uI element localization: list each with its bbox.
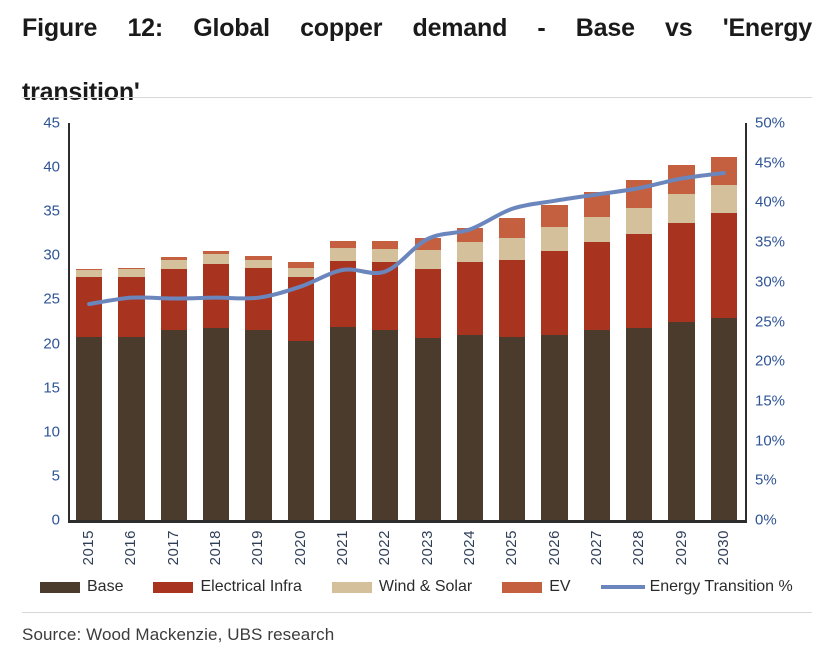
bar-segment-electrical-infra-2030 [711,213,737,318]
page-title: Figure 12: Global copper demand - Base v… [22,12,812,108]
bar-2016 [118,123,144,520]
y-axis-left [68,123,70,522]
x-tick-2024: 2024 [461,530,478,565]
bar-segment-ev-2019 [245,256,271,260]
chart-legend: BaseElectrical InfraWind & SolarEVEnergy… [40,578,793,596]
bar-segment-wind-solar-2029 [668,194,694,222]
bar-segment-electrical-infra-2020 [288,277,314,341]
y-tick-right-20pct: 20% [755,353,810,370]
bar-segment-wind-solar-2016 [118,269,144,277]
y-tick-right-45pct: 45% [755,154,810,171]
bar-segment-base-2023 [415,338,441,520]
y-tick-left-5: 5 [20,467,60,484]
bar-segment-ev-2016 [118,268,144,270]
bar-segment-wind-solar-2025 [499,238,525,260]
bar-segment-electrical-infra-2023 [415,269,441,339]
x-tick-2025: 2025 [503,530,520,565]
legend-item-electrical-infra[interactable]: Electrical Infra [153,578,301,596]
bar-segment-wind-solar-2017 [161,260,187,269]
bar-segment-electrical-infra-2028 [626,234,652,328]
y-tick-right-0pct: 0% [755,512,810,529]
y-tick-right-35pct: 35% [755,234,810,251]
bar-2020 [288,123,314,520]
bar-segment-electrical-infra-2024 [457,262,483,335]
bar-2028 [626,123,652,520]
legend-line-icon-energy-transition [601,585,645,589]
y-tick-right-30pct: 30% [755,273,810,290]
legend-label-wind-solar: Wind & Solar [379,578,472,596]
bar-2021 [330,123,356,520]
x-axis [68,520,747,523]
y-tick-right-5pct: 5% [755,472,810,489]
y-tick-right-40pct: 40% [755,194,810,211]
bar-segment-wind-solar-2021 [330,248,356,260]
y-tick-left-40: 40 [20,159,60,176]
bar-segment-base-2027 [584,330,610,520]
y-tick-left-10: 10 [20,423,60,440]
y-tick-left-30: 30 [20,247,60,264]
bar-2015 [76,123,102,520]
y-tick-left-25: 25 [20,291,60,308]
x-tick-2022: 2022 [376,530,393,565]
bar-segment-base-2015 [76,337,102,520]
bar-2019 [245,123,271,520]
legend-label-energy-transition: Energy Transition % [650,578,793,596]
bar-segment-wind-solar-2023 [415,250,441,269]
bar-2023 [415,123,441,520]
legend-swatch-icon-wind-solar [332,582,372,593]
bar-segment-electrical-infra-2018 [203,264,229,328]
bar-segment-ev-2017 [161,257,187,260]
x-tick-2027: 2027 [588,530,605,565]
bar-2030 [711,123,737,520]
bar-segment-ev-2020 [288,262,314,267]
x-tick-2021: 2021 [334,530,351,565]
bar-segment-electrical-infra-2025 [499,260,525,338]
legend-label-ev: EV [549,578,570,596]
bar-segment-wind-solar-2020 [288,268,314,277]
bar-segment-base-2022 [372,330,398,520]
bar-segment-wind-solar-2022 [372,249,398,262]
bar-segment-base-2029 [668,322,694,521]
x-tick-2020: 2020 [292,530,309,565]
bar-segment-electrical-infra-2022 [372,262,398,330]
bar-segment-base-2018 [203,328,229,520]
x-tick-2023: 2023 [419,530,436,565]
y-tick-left-15: 15 [20,379,60,396]
bar-2027 [584,123,610,520]
bar-segment-ev-2024 [457,228,483,242]
bar-segment-base-2019 [245,330,271,520]
bar-segment-ev-2023 [415,238,441,250]
bar-segment-electrical-infra-2029 [668,223,694,322]
chart-area: 051015202530354045 0%5%10%15%20%25%30%35… [0,98,831,598]
bar-2018 [203,123,229,520]
bar-segment-ev-2028 [626,180,652,207]
divider-bottom [22,612,812,613]
bar-segment-base-2016 [118,337,144,521]
bar-segment-ev-2025 [499,218,525,237]
bar-segment-ev-2029 [668,165,694,194]
bar-segment-wind-solar-2018 [203,254,229,265]
bar-2025 [499,123,525,520]
bar-segment-base-2030 [711,318,737,520]
figure-container: Figure 12: Global copper demand - Base v… [0,0,831,667]
legend-swatch-icon-electrical-infra [153,582,193,593]
bar-segment-wind-solar-2015 [76,270,102,277]
legend-label-base: Base [87,578,123,596]
y-axis-right [745,123,747,522]
x-tick-2015: 2015 [80,530,97,565]
legend-item-ev[interactable]: EV [502,578,570,596]
bar-2022 [372,123,398,520]
bar-segment-electrical-infra-2019 [245,268,271,331]
x-tick-2028: 2028 [630,530,647,565]
x-tick-2019: 2019 [249,530,266,565]
y-tick-right-25pct: 25% [755,313,810,330]
bar-segment-base-2024 [457,335,483,520]
bar-2024 [457,123,483,520]
bar-segment-ev-2018 [203,251,229,254]
y-tick-right-50pct: 50% [755,115,810,132]
y-tick-left-45: 45 [20,115,60,132]
x-tick-2017: 2017 [165,530,182,565]
y-tick-right-10pct: 10% [755,432,810,449]
legend-item-energy-transition[interactable]: Energy Transition % [601,578,793,596]
title-line-1: Figure 12: Global copper demand - Base v… [22,12,812,76]
bar-2017 [161,123,187,520]
bar-segment-ev-2026 [541,205,567,227]
x-tick-2018: 2018 [207,530,224,565]
y-tick-right-15pct: 15% [755,392,810,409]
bar-segment-electrical-infra-2021 [330,261,356,327]
bar-segment-wind-solar-2030 [711,185,737,213]
y-tick-left-20: 20 [20,335,60,352]
x-tick-2016: 2016 [122,530,139,565]
y-tick-left-35: 35 [20,203,60,220]
bar-segment-wind-solar-2019 [245,260,271,268]
bar-segment-electrical-infra-2016 [118,277,144,336]
x-tick-2029: 2029 [673,530,690,565]
bar-segment-ev-2021 [330,241,356,248]
legend-item-base[interactable]: Base [40,578,123,596]
bar-segment-wind-solar-2024 [457,242,483,261]
bar-segment-ev-2015 [76,269,102,270]
legend-item-wind-solar[interactable]: Wind & Solar [332,578,472,596]
bar-segment-base-2021 [330,327,356,520]
bar-segment-ev-2027 [584,192,610,217]
source-note: Source: Wood Mackenzie, UBS research [22,625,334,645]
x-tick-2030: 2030 [715,530,732,565]
bar-segment-electrical-infra-2026 [541,251,567,335]
bar-segment-base-2026 [541,335,567,520]
bar-segment-base-2025 [499,337,525,520]
legend-label-electrical-infra: Electrical Infra [200,578,301,596]
bar-segment-electrical-infra-2015 [76,277,102,337]
bar-segment-base-2020 [288,341,314,520]
bar-segment-electrical-infra-2017 [161,269,187,331]
legend-swatch-icon-ev [502,582,542,593]
bar-segment-wind-solar-2028 [626,208,652,234]
bar-segment-electrical-infra-2027 [584,242,610,330]
bar-segment-ev-2022 [372,241,398,249]
bar-segment-ev-2030 [711,157,737,184]
bar-2026 [541,123,567,520]
y-tick-left-0: 0 [20,512,60,529]
bar-segment-wind-solar-2027 [584,217,610,243]
bar-segment-base-2017 [161,330,187,520]
legend-swatch-icon-base [40,582,80,593]
bar-segment-base-2028 [626,328,652,520]
x-tick-2026: 2026 [546,530,563,565]
bar-segment-wind-solar-2026 [541,227,567,251]
bar-2029 [668,123,694,520]
